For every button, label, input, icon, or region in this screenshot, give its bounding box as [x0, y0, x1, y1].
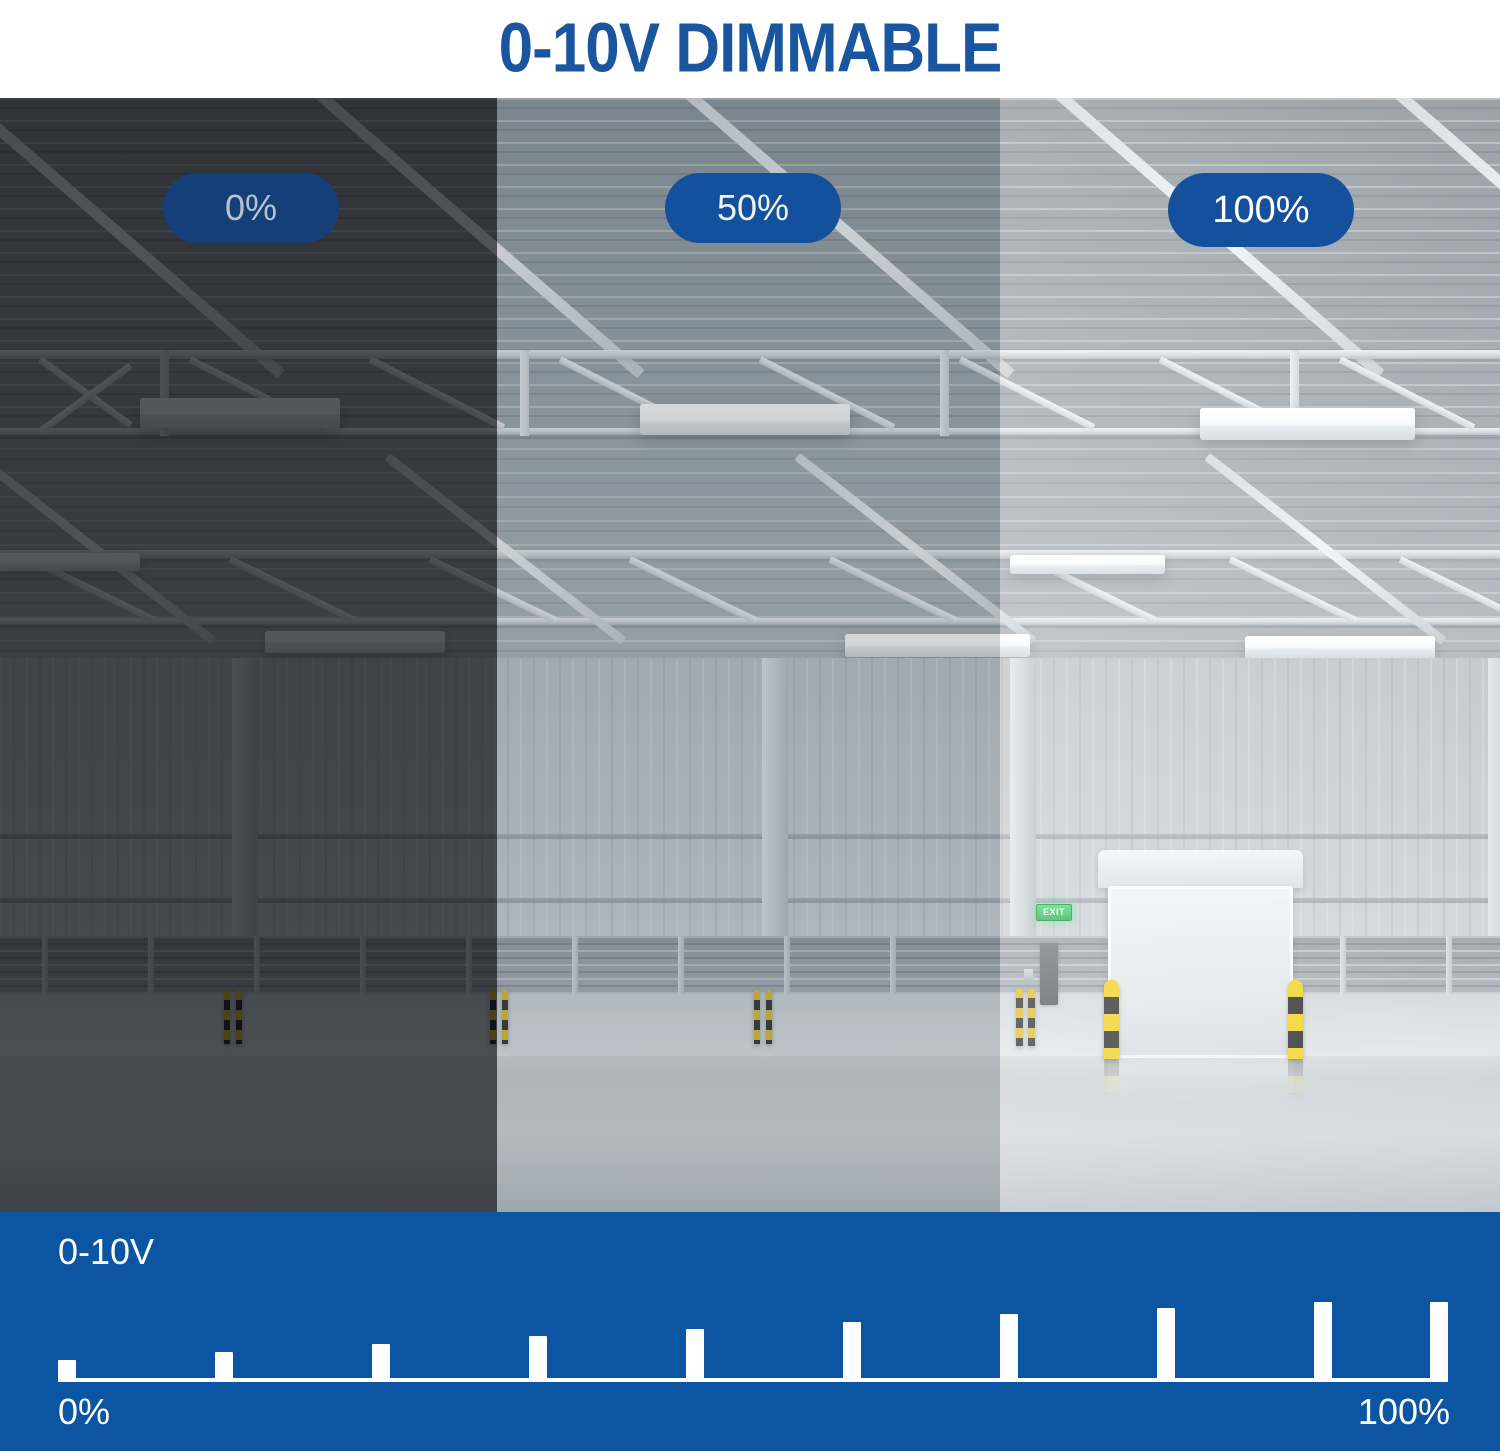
louver-divider	[466, 936, 472, 994]
scale-max-label: 100%	[1358, 1394, 1450, 1430]
louver-divider	[572, 936, 578, 994]
safety-bollard	[766, 990, 772, 1044]
wall-beam	[0, 834, 1500, 839]
truss-post	[940, 350, 949, 436]
louver-divider	[148, 936, 154, 994]
truss-post	[520, 350, 529, 436]
roll-up-door-header	[1098, 850, 1303, 888]
louver-divider	[42, 936, 48, 994]
led-panel-fixture	[845, 634, 1030, 657]
scale-tick	[215, 1352, 233, 1382]
dimmable-infographic: 0-10V DIMMABLE	[0, 0, 1500, 1451]
scale-min-label: 0%	[58, 1394, 110, 1430]
wall-pier	[1488, 658, 1500, 948]
title-band: 0-10V DIMMABLE	[0, 0, 1500, 98]
safety-bollard	[490, 990, 496, 1044]
safety-bollard	[1028, 988, 1035, 1046]
dimming-scale-footer: 0-10V 0% 100%	[0, 1212, 1500, 1451]
dimming-scale[interactable]	[0, 1302, 1500, 1382]
led-panel-fixture	[0, 553, 140, 571]
safety-bollard	[502, 990, 508, 1044]
warehouse-scene: EXIT	[0, 98, 1500, 1212]
louver-divider	[1340, 936, 1346, 994]
safety-bollard	[1016, 988, 1023, 1046]
safety-bollard	[754, 990, 760, 1044]
scale-tick	[1314, 1302, 1332, 1382]
brightness-badge-100: 100%	[1168, 173, 1354, 247]
scale-tick	[58, 1360, 76, 1382]
exit-sign: EXIT	[1036, 904, 1072, 921]
louver-divider	[678, 936, 684, 994]
page-title: 0-10V DIMMABLE	[499, 14, 1002, 83]
led-panel-fixture	[140, 398, 340, 428]
truss-chord	[0, 550, 1500, 559]
louver-divider	[254, 936, 260, 994]
led-panel-fixture	[1200, 408, 1415, 440]
warehouse-photo: EXIT	[0, 98, 1500, 1212]
scale-tick	[843, 1322, 861, 1382]
safety-bollard	[224, 990, 230, 1044]
scale-tick	[1430, 1302, 1448, 1382]
brightness-badge-50: 50%	[665, 173, 841, 243]
roll-up-door-reflection	[1108, 1058, 1293, 1104]
wall-junction-box	[1024, 969, 1033, 981]
led-panel-fixture	[1010, 555, 1165, 574]
safety-bollard-reflection	[1288, 1059, 1303, 1099]
scale-tick	[1000, 1314, 1018, 1382]
wall-control-panel	[1040, 943, 1058, 1005]
roll-up-door	[1108, 886, 1293, 1058]
safety-bollard-reflection	[1104, 1059, 1119, 1099]
scale-tick	[686, 1329, 704, 1382]
led-panel-fixture	[265, 631, 445, 653]
scale-tick	[1157, 1308, 1175, 1382]
exit-sign-label: EXIT	[1043, 908, 1065, 917]
scale-tick	[372, 1344, 390, 1382]
scale-title: 0-10V	[58, 1234, 154, 1270]
truss-chord	[0, 350, 1500, 359]
led-panel-fixture	[1245, 636, 1435, 659]
louver-divider	[890, 936, 896, 994]
scale-baseline	[58, 1378, 1448, 1382]
wall-pier	[1010, 658, 1036, 958]
louver-divider	[784, 936, 790, 994]
louver-divider	[360, 936, 366, 994]
scale-tick	[529, 1336, 547, 1382]
safety-bollard	[1104, 980, 1119, 1059]
safety-bollard	[1288, 980, 1303, 1059]
safety-bollard	[236, 990, 242, 1044]
wall-pier	[232, 658, 258, 948]
brightness-badge-0: 0%	[163, 173, 339, 243]
led-panel-fixture	[640, 404, 850, 435]
wall-pier	[762, 658, 788, 948]
louver-divider	[1446, 936, 1452, 994]
